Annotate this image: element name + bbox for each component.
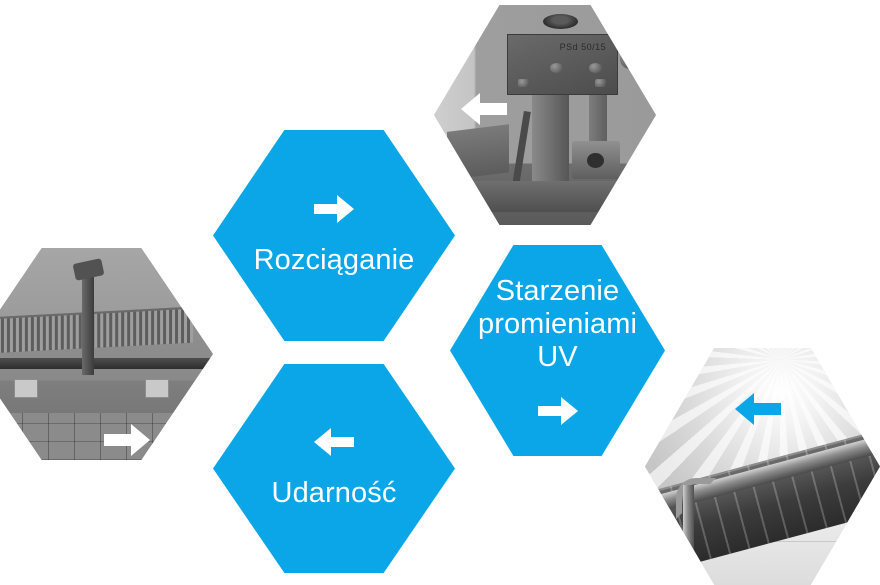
hex-label-starzenie-uv: Starzenie promieniami UV <box>464 275 651 374</box>
hex-node-udarnosc[interactable]: Udarność <box>213 364 455 573</box>
machine-handwheel <box>543 14 579 29</box>
arrow-left-icon <box>314 427 354 457</box>
rig-grating <box>0 306 194 353</box>
machine-base <box>456 181 638 212</box>
machine-side-knob <box>620 49 640 69</box>
machine-knob-right <box>589 63 602 73</box>
photo-hex-roof-uv <box>645 348 880 585</box>
hex-node-starzenie-uv[interactable]: Starzenie promieniami UV <box>450 245 665 456</box>
rig-clamp-right <box>145 379 169 398</box>
rig-vertical-bar <box>82 265 94 375</box>
rig-head <box>73 258 105 281</box>
machine-lever <box>513 111 531 186</box>
machine-model-label: PSd 50/15 <box>560 42 607 52</box>
downpipe-elbow <box>676 478 716 518</box>
arrow-left-icon <box>735 392 781 426</box>
arrow-left-icon <box>461 92 507 126</box>
machine-control-panel: PSd 50/15 <box>507 34 618 95</box>
machine-specimen-vise <box>572 141 621 178</box>
machine-collection-bin <box>447 124 509 180</box>
rig-horizontal-bar <box>0 358 213 369</box>
hex-label-rozciaganie: Rozciąganie <box>240 244 429 277</box>
hex-label-udarnosc: Udarność <box>258 477 411 510</box>
rig-clamp-left <box>14 379 38 398</box>
downpipe <box>683 485 695 585</box>
machine-knob-center <box>550 63 563 73</box>
arrow-right-icon <box>104 423 150 457</box>
roof-uv-photo <box>645 348 880 585</box>
diagram-canvas: PSd 50/15 <box>0 0 880 585</box>
arrow-right-icon <box>314 194 354 224</box>
machine-button-right <box>595 79 606 87</box>
machine-button-left <box>518 79 529 87</box>
hex-node-rozciaganie[interactable]: Rozciąganie <box>213 130 455 341</box>
arrow-right-icon <box>538 396 578 426</box>
